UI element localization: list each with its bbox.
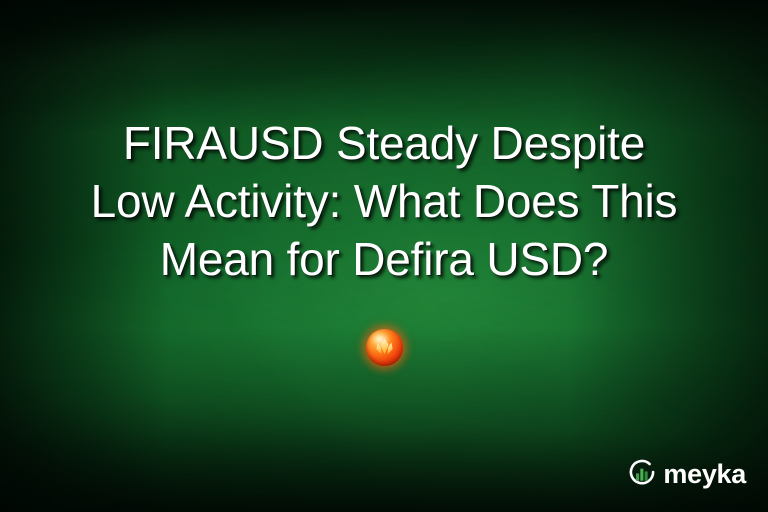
defira-token-icon [366, 329, 403, 366]
article-hero-banner: FIRAUSD Steady Despite Low Activity: Wha… [0, 0, 768, 512]
meyka-wordmark: meyka [663, 461, 746, 488]
page-title: FIRAUSD Steady Despite Low Activity: Wha… [0, 114, 768, 288]
meyka-chart-circle-icon [626, 458, 658, 490]
meyka-logo[interactable]: meyka [626, 458, 746, 490]
token-specular-highlight [372, 333, 389, 346]
